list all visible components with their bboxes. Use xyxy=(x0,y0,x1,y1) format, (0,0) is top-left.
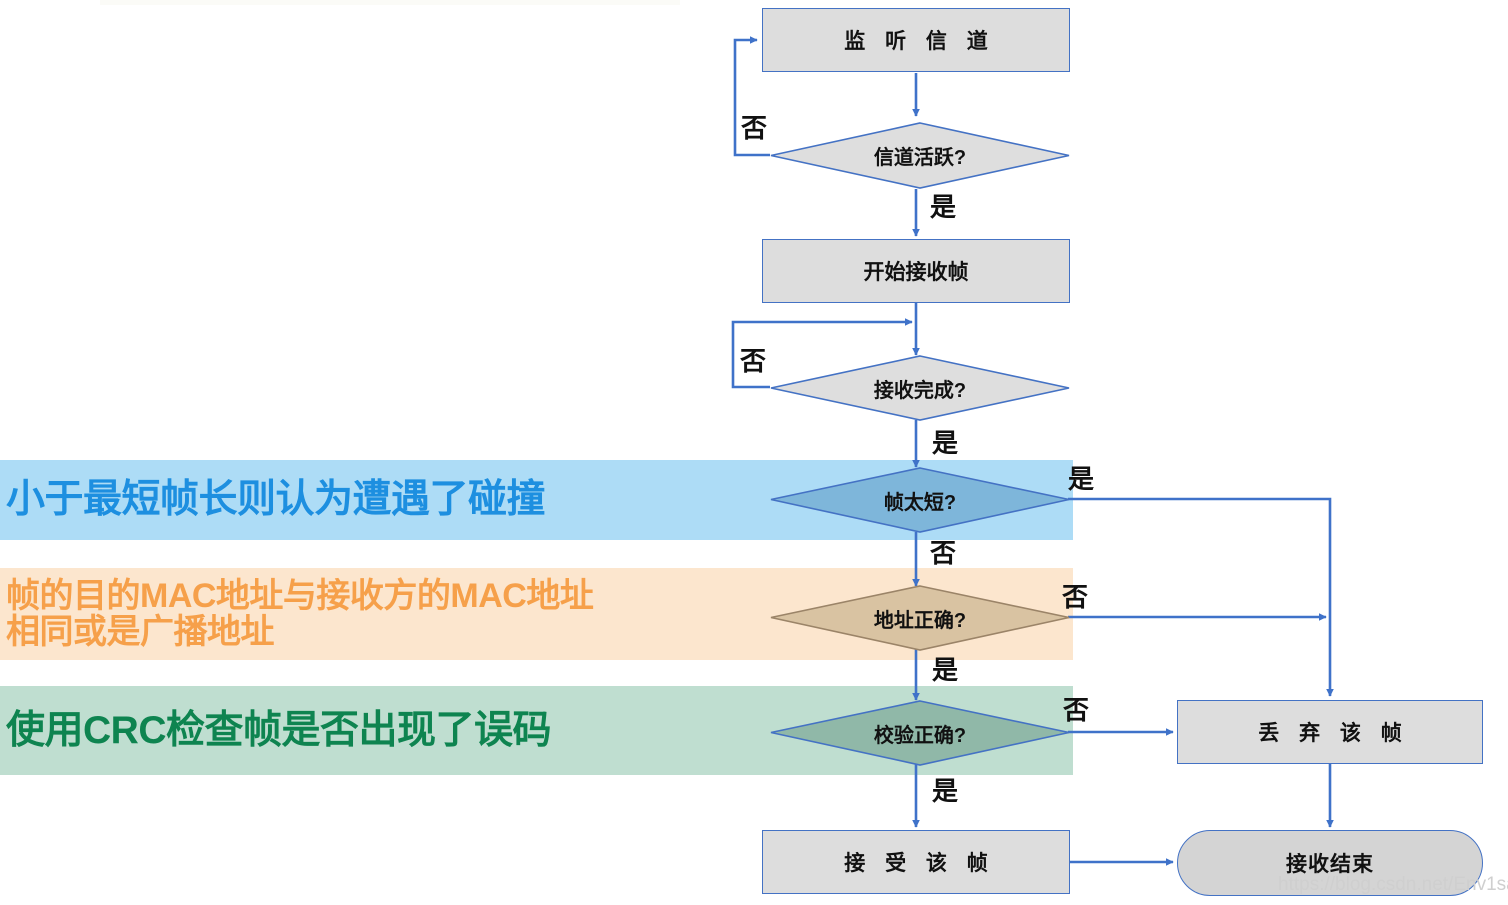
node-start-receive[interactable]: 开始接收帧 xyxy=(762,239,1070,303)
node-start-receive-label: 开始接收帧 xyxy=(864,256,969,286)
node-accept-frame[interactable]: 接 受 该 帧 xyxy=(762,830,1070,894)
node-channel-active-label: 信道活跃? xyxy=(770,122,1070,189)
edge-label-channel-active-no: 否 xyxy=(741,115,767,141)
top-edge-artifact xyxy=(100,0,680,5)
node-frame-too-short[interactable]: 帧太短? xyxy=(770,467,1070,533)
node-receive-done-label: 接收完成? xyxy=(770,355,1070,421)
node-listen-channel-label: 监 听 信 道 xyxy=(837,25,995,55)
edge-label-receive-done-yes: 是 xyxy=(932,430,958,456)
edge-label-channel-active-yes: 是 xyxy=(930,194,956,220)
node-receive-done[interactable]: 接收完成? xyxy=(770,355,1070,421)
edge-label-crc-correct-no: 否 xyxy=(1063,697,1089,723)
edge-label-address-correct-yes: 是 xyxy=(932,657,958,683)
node-listen-channel[interactable]: 监 听 信 道 xyxy=(762,8,1070,72)
watermark: https://blog.csdn.net/Env1sage xyxy=(1278,874,1508,896)
node-crc-correct[interactable]: 校验正确? xyxy=(770,700,1070,766)
node-channel-active[interactable]: 信道活跃? xyxy=(770,122,1070,189)
edge-label-crc-correct-yes: 是 xyxy=(932,778,958,804)
node-address-correct[interactable]: 地址正确? xyxy=(770,585,1070,651)
node-accept-frame-label: 接 受 该 帧 xyxy=(837,847,995,877)
node-discard-frame[interactable]: 丢 弃 该 帧 xyxy=(1177,700,1483,764)
edge-label-address-correct-no: 否 xyxy=(1062,584,1088,610)
edge-label-frame-too-short-yes: 是 xyxy=(1068,466,1094,492)
edge-label-frame-too-short-no: 否 xyxy=(930,540,956,566)
node-address-correct-label: 地址正确? xyxy=(770,585,1070,651)
edge-label-receive-done-no: 否 xyxy=(740,348,766,374)
node-frame-too-short-label: 帧太短? xyxy=(770,467,1070,533)
node-crc-correct-label: 校验正确? xyxy=(770,700,1070,766)
node-discard-frame-label: 丢 弃 该 帧 xyxy=(1251,717,1409,747)
flowchart-canvas: 小于最短帧长则认为遭遇了碰撞 帧的目的MAC地址与接收方的MAC地址 相同或是广… xyxy=(0,0,1508,905)
